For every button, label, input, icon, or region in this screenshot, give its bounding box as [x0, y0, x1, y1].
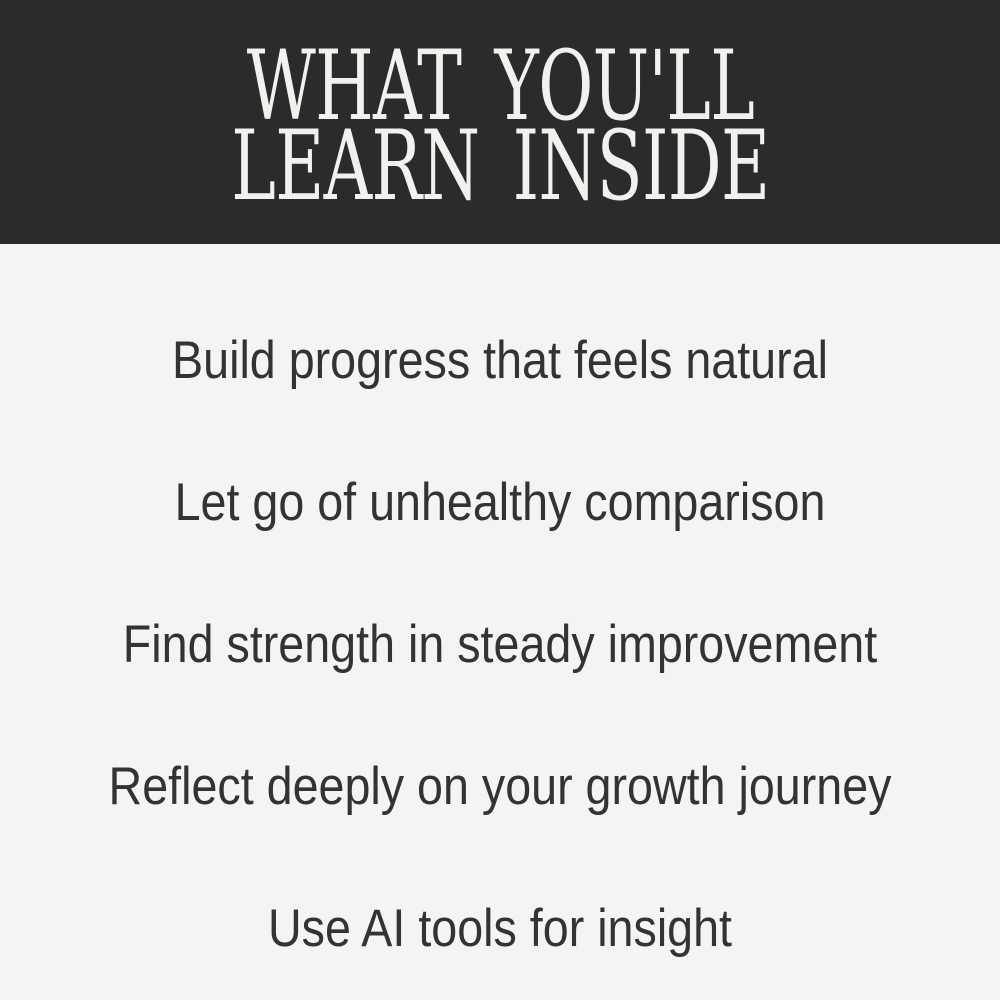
list-item: Find strength in steady improvement [60, 574, 940, 716]
learn-list: Build progress that feels natural Let go… [0, 244, 1000, 1000]
header-band: WHAT YOU'LL LEARN INSIDE [0, 0, 1000, 244]
list-item: Build progress that feels natural [60, 290, 940, 432]
list-item: Let go of unhealthy comparison [60, 432, 940, 574]
list-item: Use AI tools for insight [60, 858, 940, 1000]
poster-canvas: WHAT YOU'LL LEARN INSIDE Build progress … [0, 0, 1000, 1000]
list-item: Reflect deeply on your growth journey [60, 716, 940, 858]
page-title-line-2: LEARN INSIDE [231, 127, 769, 205]
